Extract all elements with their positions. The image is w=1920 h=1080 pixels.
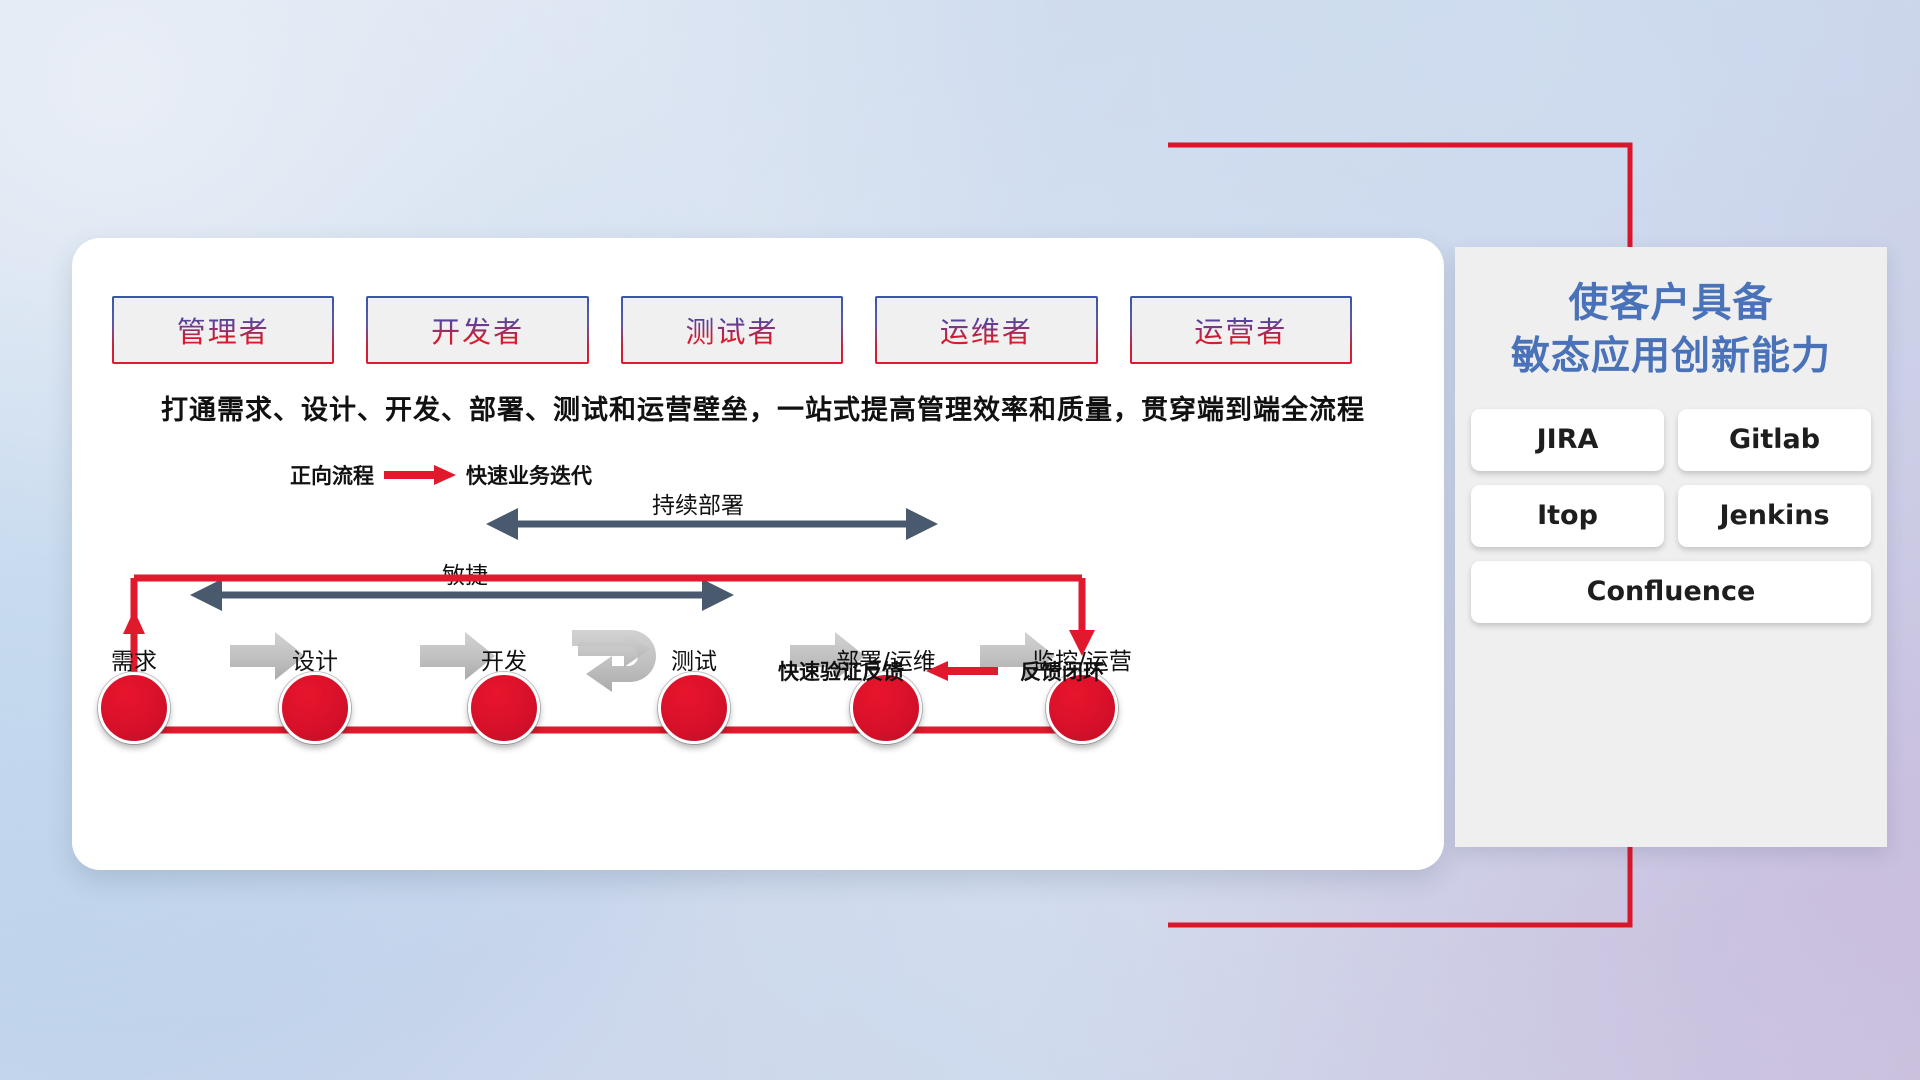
tool-chip-confluence[interactable]: Confluence <box>1471 561 1871 623</box>
feedback-closed-loop-label: 反馈闭环 <box>1020 656 1104 686</box>
rework-loop-icon <box>572 630 656 692</box>
stage-label-design: 设计 <box>292 642 338 676</box>
feedback-loop-legend: 快速验证反馈 反馈闭环 <box>778 656 1104 686</box>
stage-node-design[interactable] <box>279 672 351 744</box>
panel-title: 使客户具备 敏态应用创新能力 <box>1455 277 1887 383</box>
stage-node-requirement[interactable] <box>98 672 170 744</box>
red-loop-arrowhead-up <box>123 610 145 634</box>
main-diagram-card: 管理者 开发者 测试者 运维者 运营者 打通需求、设计、开发、部署、测试和运营壁… <box>72 238 1444 870</box>
stage-risers <box>134 690 1082 730</box>
tool-chip-list: JIRA Gitlab Itop Jenkins Confluence <box>1471 409 1871 623</box>
capability-panel: 使客户具备 敏态应用创新能力 JIRA Gitlab Itop Jenkins … <box>1455 247 1887 847</box>
red-arrow-left-icon <box>926 661 998 681</box>
stage-node-test[interactable] <box>658 672 730 744</box>
stage-node-develop[interactable] <box>468 672 540 744</box>
pipeline-graphics <box>72 238 1444 870</box>
stage-label-develop: 开发 <box>481 642 527 676</box>
tool-chip-itop[interactable]: Itop <box>1471 485 1664 547</box>
tool-chip-gitlab[interactable]: Gitlab <box>1678 409 1871 471</box>
tool-chip-jira[interactable]: JIRA <box>1471 409 1664 471</box>
stage-label-requirement: 需求 <box>111 642 157 676</box>
tool-chip-jenkins[interactable]: Jenkins <box>1678 485 1871 547</box>
panel-title-line1: 使客户具备 <box>1455 277 1887 331</box>
continuous-deployment-arrow <box>486 508 938 540</box>
agile-arrow <box>190 579 734 611</box>
stage-label-test: 测试 <box>671 642 717 676</box>
fast-validation-label: 快速验证反馈 <box>778 656 904 686</box>
panel-title-line2: 敏态应用创新能力 <box>1455 331 1887 383</box>
